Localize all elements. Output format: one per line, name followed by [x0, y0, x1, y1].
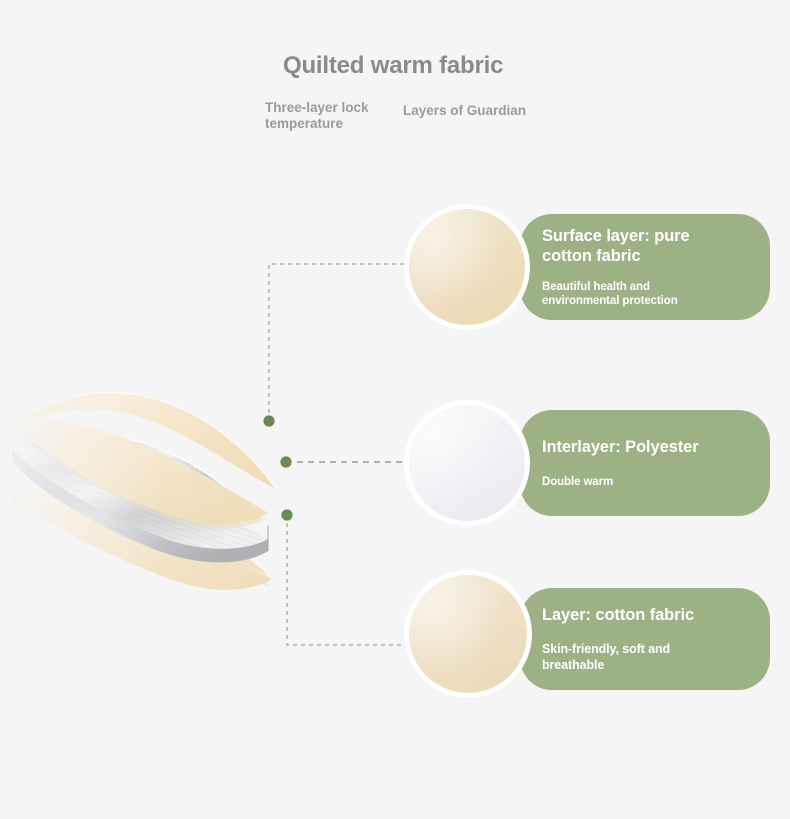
layer-title-base: Layer: cotton fabric: [542, 605, 732, 625]
three-layer-fabric-illustration: [0, 355, 380, 590]
layer-title-interlayer: Interlayer: Polyester: [542, 437, 742, 457]
layer-subtitle-interlayer: Double warm: [542, 475, 732, 489]
layer-card-surface[interactable]: Surface layer: pure cotton fabric Beauti…: [404, 204, 770, 330]
cotton-fabric-swatch-base: [404, 570, 532, 698]
layer-card-body-base: Layer: cotton fabric Skin-friendly, soft…: [520, 588, 770, 690]
fabric-layers-svg: [0, 355, 380, 590]
polyester-swatch-interlayer: [404, 400, 530, 526]
layer-card-base[interactable]: Layer: cotton fabric Skin-friendly, soft…: [404, 570, 770, 698]
infographic-canvas: Quilted warm fabric Three-layer lock tem…: [0, 0, 790, 819]
subtitle-layers-of-guardian: Layers of Guardian: [403, 103, 526, 119]
page-title: Quilted warm fabric: [283, 52, 503, 80]
subtitle-three-layer-lock-temperature: Three-layer lock temperature: [265, 100, 405, 132]
layer-card-body-surface: Surface layer: pure cotton fabric Beauti…: [520, 214, 770, 320]
layer-card-interlayer[interactable]: Interlayer: Polyester Double warm: [404, 400, 770, 526]
cotton-fabric-swatch-surface: [404, 204, 530, 330]
layer-card-body-interlayer: Interlayer: Polyester Double warm: [520, 410, 770, 516]
layer-subtitle-base: Skin-friendly, soft and breathable: [542, 641, 692, 673]
layer-subtitle-surface: Beautiful health and environmental prote…: [542, 280, 727, 308]
layer-title-surface: Surface layer: pure cotton fabric: [542, 226, 722, 266]
